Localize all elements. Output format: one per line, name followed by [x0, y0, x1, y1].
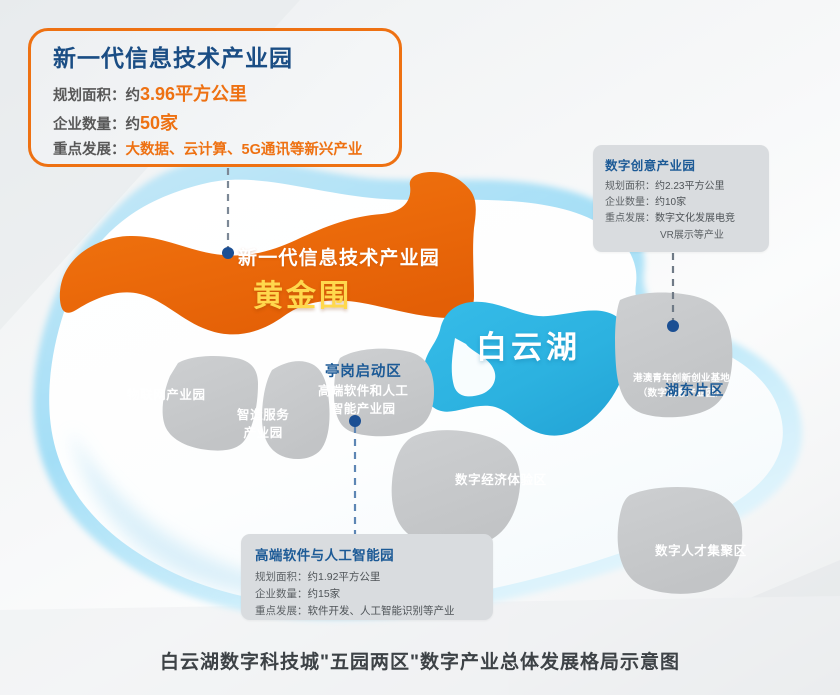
- row-prefix-area: 约: [126, 88, 141, 104]
- hd-value-count: 约15家: [308, 588, 341, 600]
- zone-digital-economy-experience: [392, 430, 521, 547]
- callout-digital-creative-park: 数字创意产业园 规划面积：约2.23平方公里 企业数量：约10家 重点发展：数字…: [593, 145, 769, 252]
- callout-dc-row-focus: 重点发展：数字文化发展电竞: [605, 211, 759, 227]
- map-label-huangjinwei: 黄金围: [253, 271, 352, 315]
- tinggang-sub-line1: 高端软件和人工: [318, 382, 408, 400]
- dc-key-area: 规划面积：: [605, 181, 655, 192]
- callout-main-row-count: 企业数量：约50家: [53, 109, 381, 138]
- dc-value-count: 约10家: [655, 197, 686, 208]
- row-value-count: 50家: [140, 113, 178, 133]
- callout-new-gen-information-tech-park: 新一代信息技术产业园 规划面积：约3.96平方公里 企业数量：约50家 重点发展…: [28, 28, 402, 167]
- row-value-area: 3.96平方公里: [140, 84, 247, 104]
- smart-mfg-line2: 产业园: [237, 424, 289, 442]
- tinggang-sub-line2: 智能产业园: [318, 400, 408, 418]
- infographic-canvas: 新一代信息技术产业园 黄金围 白云湖 物联网产业园 智造服务 产业园 亭岗启动区…: [0, 0, 840, 695]
- callout-main-title: 新一代信息技术产业园: [53, 46, 381, 71]
- callout-dc-row-count: 企业数量：约10家: [605, 195, 759, 211]
- hd-value-area: 约1.92平方公里: [308, 571, 381, 583]
- hd-key-count: 企业数量：: [255, 588, 308, 600]
- dc-value-area: 约2.23平方公里: [655, 181, 724, 192]
- hd-key-focus: 重点发展：: [255, 605, 308, 617]
- hd-value-focus: 软件开发、人工智能识别等产业: [308, 605, 455, 617]
- callout-high-end-software-ai-park: 高端软件与人工智能园 规划面积：约1.92平方公里 企业数量：约15家 重点发展…: [241, 534, 493, 620]
- dc-key-focus: 重点发展：: [605, 213, 655, 224]
- row-prefix-count: 约: [126, 117, 141, 133]
- map-label-iot-park: 物联网产业园: [127, 384, 206, 403]
- row-key-focus: 重点发展：: [53, 142, 126, 158]
- row-key-count: 企业数量：: [53, 117, 126, 133]
- callout-hd-title: 高端软件与人工智能园: [255, 544, 481, 564]
- callout-main-row-area: 规划面积：约3.96平方公里: [53, 80, 381, 109]
- dc-value-focus: 数字文化发展电竞: [655, 213, 735, 224]
- hd-key-area: 规划面积：: [255, 571, 308, 583]
- row-value-focus: 大数据、云计算、5G通讯等新兴产业: [126, 142, 363, 158]
- smart-mfg-line1: 智造服务: [237, 406, 289, 424]
- callout-dc-row-focus-cont: VR展示等产业: [605, 228, 759, 244]
- callout-dc-row-area: 规划面积：约2.23平方公里: [605, 179, 759, 195]
- map-label-hudong-zone: 湖东片区: [665, 380, 724, 400]
- map-label-tinggang-sub: 高端软件和人工 智能产业园: [318, 382, 408, 418]
- callout-hd-row-area: 规划面积：约1.92平方公里: [255, 569, 481, 586]
- dc-key-count: 企业数量：: [605, 197, 655, 208]
- figure-caption: 白云湖数字科技城"五园两区"数字产业总体发展格局示意图: [0, 647, 840, 674]
- callout-main-row-focus: 重点发展：大数据、云计算、5G通讯等新兴产业: [53, 139, 381, 162]
- map-label-new-gen-park: 新一代信息技术产业园: [238, 243, 440, 270]
- map-label-digital-economy-zone: 数字经济体验区: [455, 469, 547, 488]
- map-label-digital-talent-zone: 数字人才集聚区: [655, 540, 747, 559]
- callout-dc-title: 数字创意产业园: [605, 155, 759, 174]
- map-label-lake: 白云湖: [476, 322, 581, 367]
- row-key-area: 规划面积：: [53, 88, 126, 104]
- map-label-smart-manufacturing: 智造服务 产业园: [237, 406, 289, 442]
- map-label-tinggang-zone: 亭岗启动区: [325, 360, 402, 381]
- callout-hd-row-count: 企业数量：约15家: [255, 586, 481, 603]
- callout-hd-row-focus: 重点发展：软件开发、人工智能识别等产业: [255, 603, 481, 620]
